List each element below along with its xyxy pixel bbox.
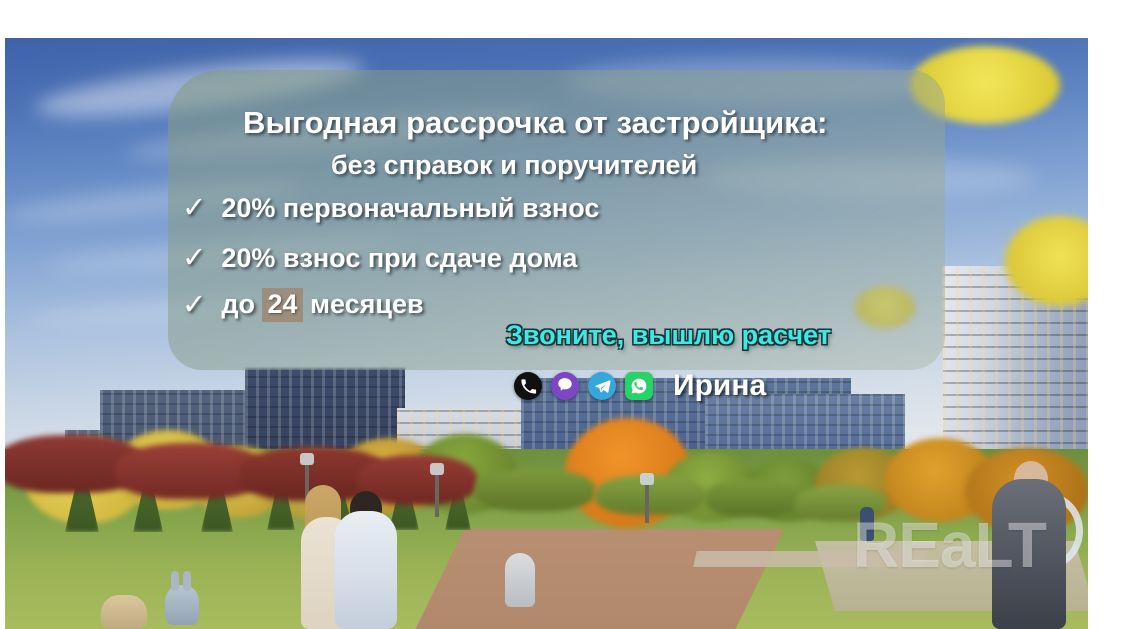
phone-icon[interactable] bbox=[514, 372, 542, 400]
subtitle: без справок и поручителей bbox=[331, 150, 697, 181]
check-icon: ✓ bbox=[182, 244, 206, 273]
bunny-sculpture bbox=[165, 585, 199, 625]
contact-row: Ирина bbox=[514, 369, 766, 403]
pedestrian bbox=[860, 507, 874, 541]
term-highlight: 24 bbox=[262, 288, 302, 322]
shrub bbox=[475, 469, 595, 511]
check-icon: ✓ bbox=[182, 194, 206, 223]
person-foreground bbox=[992, 479, 1066, 629]
walkway bbox=[406, 529, 785, 629]
agent-name: Ирина bbox=[673, 369, 766, 403]
viber-icon[interactable] bbox=[551, 372, 579, 400]
list-item: ✓ 20% первоначальный взнос bbox=[182, 193, 599, 224]
list-item: ✓ до 24 месяцев bbox=[182, 288, 424, 322]
kerb bbox=[693, 551, 926, 567]
sculpture bbox=[505, 553, 535, 607]
call-to-action: Звоните, вышлю расчет bbox=[506, 320, 831, 351]
check-icon: ✓ bbox=[182, 291, 206, 320]
shrub bbox=[705, 479, 801, 517]
telegram-icon[interactable] bbox=[588, 372, 616, 400]
street-lamp bbox=[645, 483, 649, 523]
page-title: Выгодная рассрочка от застройщика: bbox=[243, 105, 828, 141]
dog bbox=[101, 595, 147, 629]
street-lamp bbox=[435, 473, 439, 517]
ad-banner: REaLT Выгодная рассрочка от застройщика:… bbox=[0, 0, 1122, 629]
term-suffix: месяцев bbox=[303, 289, 424, 319]
term-prefix: до bbox=[221, 289, 262, 319]
person-man bbox=[335, 511, 397, 629]
list-item-label: до 24 месяцев bbox=[221, 288, 423, 322]
list-item-label: 20% взнос при сдаче дома bbox=[221, 243, 577, 274]
whatsapp-icon[interactable] bbox=[625, 372, 653, 400]
list-item-label: 20% первоначальный взнос bbox=[221, 193, 599, 224]
list-item: ✓ 20% взнос при сдаче дома bbox=[182, 243, 577, 274]
